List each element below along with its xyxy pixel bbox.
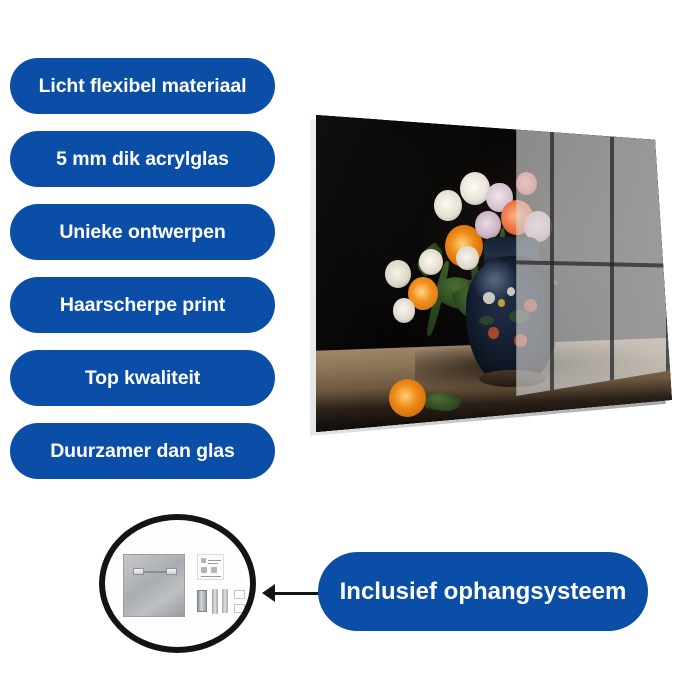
instruction-card bbox=[197, 554, 224, 580]
adhesive-pad bbox=[234, 604, 245, 613]
callout-pill[interactable]: Inclusief ophangsysteem bbox=[318, 552, 648, 631]
feature-pill-label: 5 mm dik acrylglas bbox=[56, 148, 229, 171]
feature-pill[interactable]: Top kwaliteit bbox=[10, 350, 275, 406]
feature-pill[interactable]: Licht flexibel materiaal bbox=[10, 58, 275, 114]
print-face bbox=[310, 95, 685, 445]
feature-pill-label: Unieke ontwerpen bbox=[59, 221, 225, 244]
feature-pill-label: Licht flexibel materiaal bbox=[39, 75, 247, 98]
adhesive-pad bbox=[234, 590, 245, 599]
screw bbox=[212, 589, 218, 614]
feature-pill-label: Top kwaliteit bbox=[85, 367, 200, 390]
callout-pill-label: Inclusief ophangsysteem bbox=[340, 578, 627, 606]
feature-pill[interactable]: Duurzamer dan glas bbox=[10, 423, 275, 479]
feature-pill-label: Haarscherpe print bbox=[60, 294, 225, 317]
feature-pill-label: Duurzamer dan glas bbox=[50, 440, 235, 463]
plate-slot bbox=[166, 568, 177, 575]
hanging-kit-photo bbox=[113, 528, 242, 639]
wall-plug bbox=[197, 590, 207, 612]
window-mullion bbox=[310, 95, 685, 103]
feature-pill[interactable]: Haarscherpe print bbox=[10, 277, 275, 333]
screw bbox=[222, 589, 228, 613]
callout-arrow-head bbox=[262, 584, 275, 602]
feature-pill[interactable]: Unieke ontwerpen bbox=[10, 204, 275, 260]
product-image bbox=[310, 95, 685, 445]
product-feature-graphic: Licht flexibel materiaal 5 mm dik acrylg… bbox=[0, 0, 700, 700]
mounting-plate bbox=[123, 554, 185, 617]
magnifier-circle bbox=[99, 514, 256, 653]
feature-pill[interactable]: 5 mm dik acrylglas bbox=[10, 131, 275, 187]
plate-slot bbox=[133, 568, 144, 575]
